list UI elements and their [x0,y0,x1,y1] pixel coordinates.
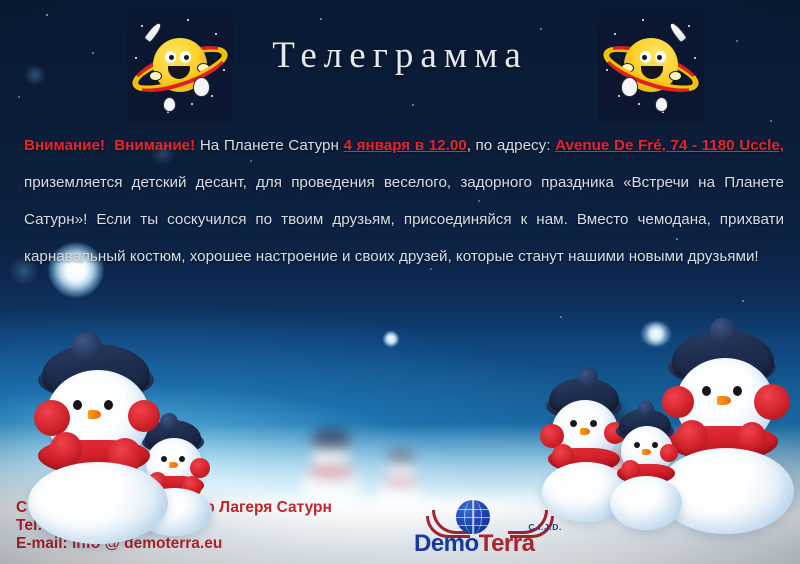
event-address: Avenue De Fré, 74 - 1180 Uccle, [555,137,784,154]
snowman-right-small [608,408,698,534]
message-segment-3: приземляется детский десант, для проведе… [24,174,784,265]
moon-small-icon [383,331,399,347]
poster-canvas: Телеграмма [0,0,800,564]
globe-icon [456,500,490,534]
message-body: Внимание! Внимание! На Планете Сатурн 4 … [24,127,784,275]
logo-wordmark: DemoTerra [414,530,534,558]
page-title: Телеграмма [0,34,800,77]
event-datetime: 4 января в 12.00 [344,137,467,154]
logo-word-terra: Terra [479,530,535,557]
message-segment-1: На Планете Сатурн [195,137,343,154]
attention-word-1: Внимание! [24,137,105,154]
snowman-left-large [16,338,191,538]
message-segment-2: , по адресу: [467,137,555,154]
attention-word-2: Внимание! [114,137,195,154]
logo-word-demo: Demo [414,530,479,557]
